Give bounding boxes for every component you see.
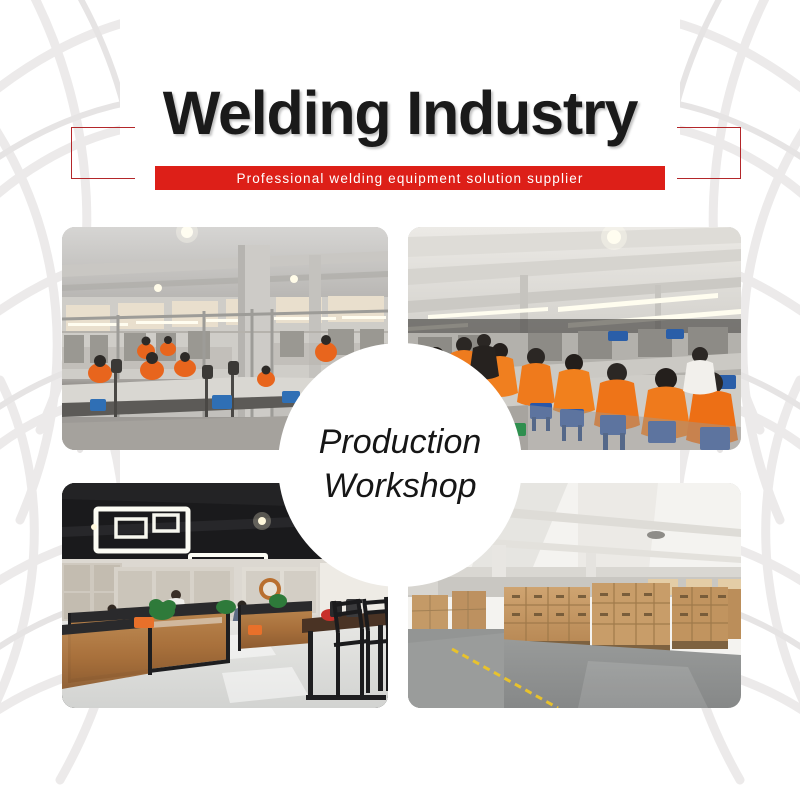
badge-line-2: Workshop [323, 465, 476, 509]
poster-canvas: Welding Industry Professional welding eq… [0, 0, 800, 800]
poster-header: Welding Industry Professional welding eq… [0, 0, 800, 215]
subtitle-text: Professional welding equipment solution … [236, 171, 583, 186]
page-title: Welding Industry [0, 83, 800, 144]
badge-line-1: Production [319, 421, 482, 465]
subtitle-banner: Professional welding equipment solution … [155, 166, 665, 190]
production-workshop-badge: Production Workshop [278, 343, 522, 587]
